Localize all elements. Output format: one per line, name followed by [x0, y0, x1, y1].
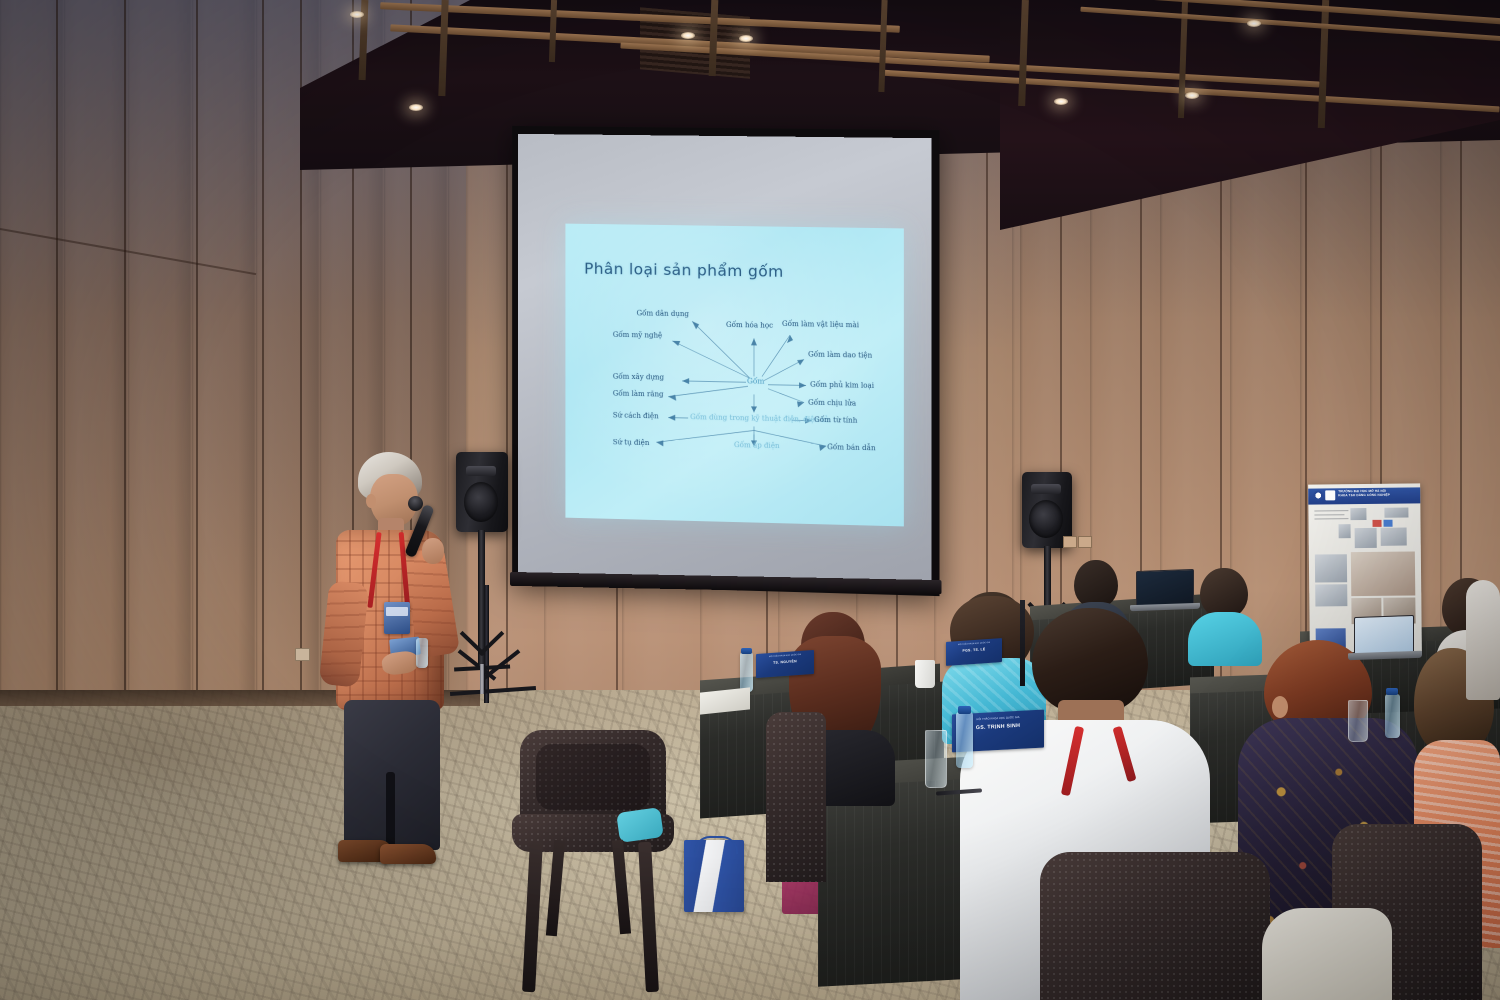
- chair-left-of-table: [766, 712, 826, 882]
- tote-handle-icon: [694, 836, 738, 854]
- diagram-node: Gốm áp điện: [734, 440, 780, 450]
- conference-room-photo: Phân loại sản phẩm gốm: [0, 0, 1500, 1000]
- water-bottle: [416, 638, 428, 668]
- nameplate-name: PGS. TS. LÊ: [946, 646, 1002, 654]
- water-bottle: [1385, 694, 1400, 738]
- bottle-cap: [1386, 688, 1398, 695]
- faculty-logo-icon: [1325, 490, 1335, 500]
- chair-foreground-right: [1040, 852, 1270, 1000]
- ceiling-spotlight: [1185, 92, 1199, 99]
- wall-outlet: [1078, 536, 1092, 548]
- diagram-node: Gốm hóa học: [726, 320, 773, 330]
- empty-chair: [512, 730, 672, 1000]
- hair: [1032, 608, 1148, 712]
- garment-on-chair: [1262, 908, 1392, 1000]
- paper-cup: [915, 660, 935, 688]
- poster-title-line2: KHOA TẠO DÁNG CÔNG NGHIỆP: [1338, 493, 1416, 498]
- water-bottle: [956, 712, 973, 768]
- presenter-right-hand: [422, 538, 444, 564]
- diagram-node: Gốm làm dao tiện: [808, 349, 872, 359]
- presentation-slide: Phân loại sản phẩm gốm: [565, 224, 903, 527]
- ear: [1272, 696, 1288, 718]
- diagram-node: Gốm xây dựng: [613, 372, 664, 382]
- diagram-node: Gốm làm răng: [613, 388, 664, 398]
- diagram-node: Gốm chịu lửa: [808, 398, 856, 408]
- drinking-glass: [1348, 700, 1368, 742]
- wall-outlet: [295, 648, 310, 661]
- poster-title: TRƯỜNG ĐẠI HỌC MỞ HÀ NỘI KHOA TẠO DÁNG C…: [1338, 488, 1416, 497]
- ceiling-spotlight: [1247, 20, 1261, 27]
- pa-speaker-left: [452, 452, 512, 702]
- presenter-badge-insert: [386, 607, 408, 616]
- ceiling-spotlight: [681, 32, 695, 39]
- presenter-leg-gap: [386, 772, 395, 852]
- presenter-ear: [366, 494, 376, 508]
- university-logo-icon: [1313, 490, 1323, 500]
- ceiling-spotlight: [739, 35, 753, 42]
- diagram-node: Gốm dân dụng: [637, 308, 689, 318]
- diagram-node: Sứ cách điện: [613, 410, 659, 420]
- diagram-node: Gốm làm vật liệu mài: [782, 319, 859, 329]
- wall-outlet: [1063, 536, 1077, 548]
- nameplate-name: TS. NGUYỄN: [756, 658, 814, 666]
- presenter: [318, 452, 458, 872]
- nameplate-tertiary: HỘI THẢO KHOA HỌC QUỐC GIA PGS. TS. LÊ: [946, 638, 1002, 666]
- bottle-cap: [958, 706, 971, 714]
- audience-member-right-edge: [1466, 580, 1500, 700]
- diagram-center-node: Gốm: [747, 376, 764, 385]
- diagram-node: Gốm từ tính: [814, 415, 857, 425]
- presenter-shoe: [380, 844, 436, 864]
- ceiling-spotlight: [350, 11, 364, 18]
- nameplate-secondary: HỘI THẢO KHOA HỌC QUỐC GIA TS. NGUYỄN: [756, 650, 814, 678]
- drinking-glass: [925, 730, 947, 788]
- ceiling-spotlight: [1054, 98, 1068, 105]
- ceiling-spotlight: [409, 104, 423, 111]
- diagram-node: Gốm mỹ nghệ: [613, 330, 662, 340]
- diagram-node: Gốm phủ kim loại: [810, 380, 874, 390]
- mic-stand-cable: [1020, 600, 1025, 686]
- diagram-node: Sứ tụ điện: [613, 437, 650, 447]
- water-bottle: [740, 652, 753, 692]
- bottle-cap: [741, 648, 752, 654]
- chair-cushion: [616, 807, 664, 843]
- diagram-node: Gốm bán dẫn: [827, 442, 875, 452]
